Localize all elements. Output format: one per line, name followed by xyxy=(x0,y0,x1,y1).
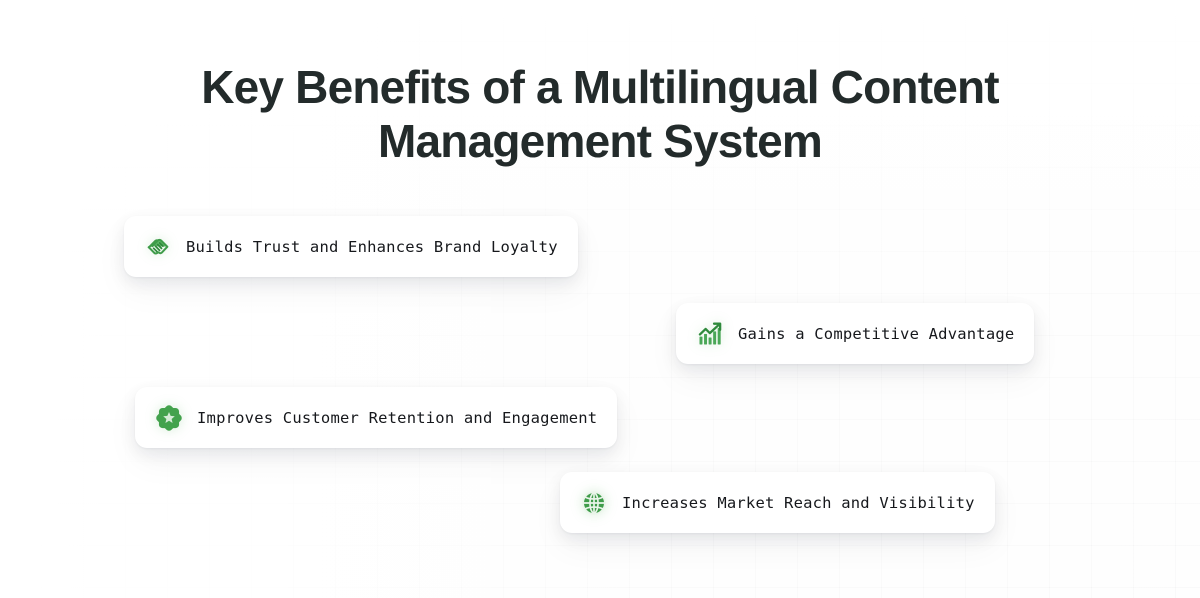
benefit-card-label: Builds Trust and Enhances Brand Loyalty xyxy=(186,238,558,256)
infographic-canvas: Key Benefits of a Multilingual Content M… xyxy=(0,0,1200,598)
star-badge-icon xyxy=(155,404,183,432)
benefit-card-market-reach[interactable]: Increases Market Reach and Visibility xyxy=(560,472,995,533)
benefit-card-label: Improves Customer Retention and Engageme… xyxy=(197,409,597,427)
benefit-card-customer-retention[interactable]: Improves Customer Retention and Engageme… xyxy=(135,387,617,448)
benefit-card-label: Gains a Competitive Advantage xyxy=(738,325,1014,343)
page-title: Key Benefits of a Multilingual Content M… xyxy=(0,60,1200,168)
handshake-icon xyxy=(144,233,172,261)
benefit-card-builds-trust[interactable]: Builds Trust and Enhances Brand Loyalty xyxy=(124,216,578,277)
bar-chart-growth-icon xyxy=(696,320,724,348)
benefit-card-label: Increases Market Reach and Visibility xyxy=(622,494,975,512)
benefit-card-competitive-advantage[interactable]: Gains a Competitive Advantage xyxy=(676,303,1034,364)
globe-icon xyxy=(580,489,608,517)
